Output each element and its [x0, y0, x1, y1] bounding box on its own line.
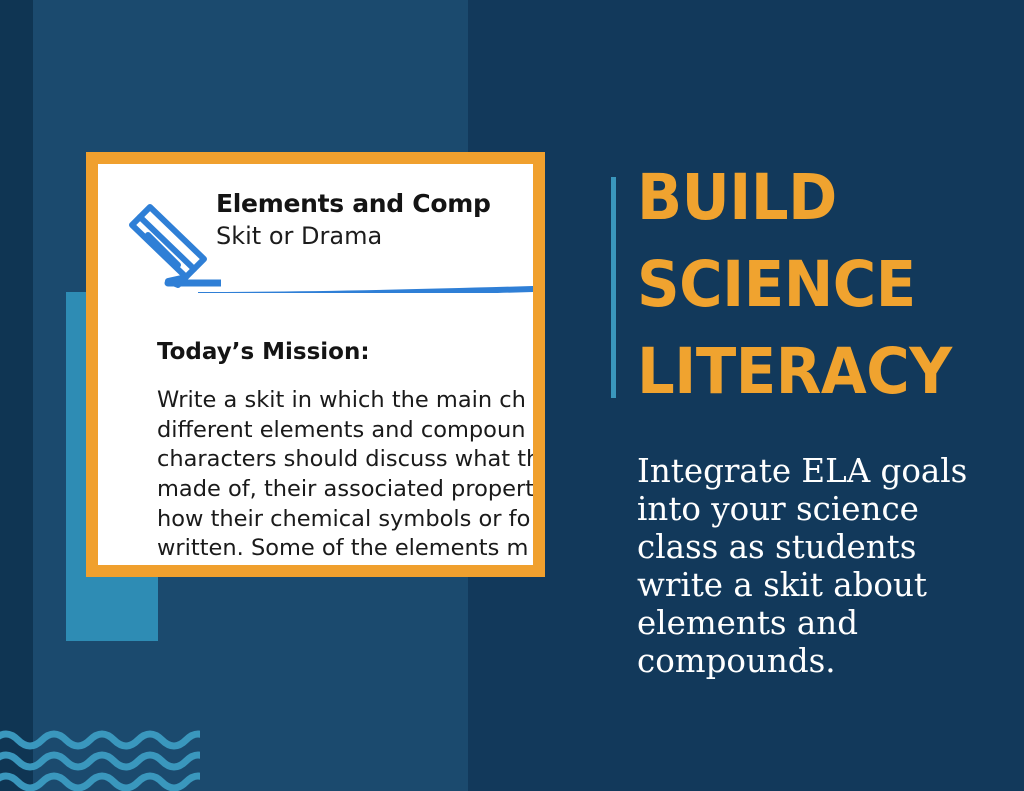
- page-title-line: LITERACY: [637, 329, 985, 416]
- worksheet-body-line: team up to make a compound!: [157, 564, 533, 565]
- vertical-accent-bar: [611, 177, 616, 398]
- worksheet-body-line: different elements and compoun: [157, 416, 533, 446]
- pencil-icon: [116, 197, 221, 292]
- worksheet-heading-block: Elements and Comp Skit or Drama: [216, 190, 533, 250]
- divider-swoosh-icon: [198, 286, 533, 293]
- wavy-lines-icon: [0, 726, 200, 791]
- page-title-line: SCIENCE: [637, 242, 985, 329]
- worksheet-image: Elements and Comp Skit or Drama Today’s …: [98, 164, 533, 565]
- worksheet-body-line: how their chemical symbols or fo: [157, 505, 533, 535]
- page-subtitle: Integrate ELA goals into your science cl…: [637, 452, 1009, 680]
- worksheet-subtitle: Skit or Drama: [216, 223, 533, 251]
- page-title: BUILD SCIENCE LITERACY: [637, 155, 985, 416]
- worksheet-body-line: written. Some of the elements m: [157, 534, 533, 564]
- worksheet-mission-heading: Today’s Mission:: [157, 339, 370, 365]
- background-band-left-dark: [0, 0, 33, 791]
- page-title-line: BUILD: [637, 155, 985, 242]
- worksheet-body-text: Write a skit in which the main ch differ…: [157, 386, 533, 565]
- slide-canvas: Elements and Comp Skit or Drama Today’s …: [0, 0, 1024, 791]
- worksheet-title: Elements and Comp: [216, 190, 533, 219]
- worksheet-body-line: made of, their associated propert: [157, 475, 533, 505]
- wavy-lines-decoration: [0, 726, 200, 791]
- pencil-icon-svg: [116, 197, 221, 292]
- worksheet-image-frame: Elements and Comp Skit or Drama Today’s …: [86, 152, 545, 577]
- worksheet-divider-rule: [198, 283, 533, 293]
- worksheet-body-line: Write a skit in which the main ch: [157, 386, 533, 416]
- worksheet-body-line: characters should discuss what th: [157, 445, 533, 475]
